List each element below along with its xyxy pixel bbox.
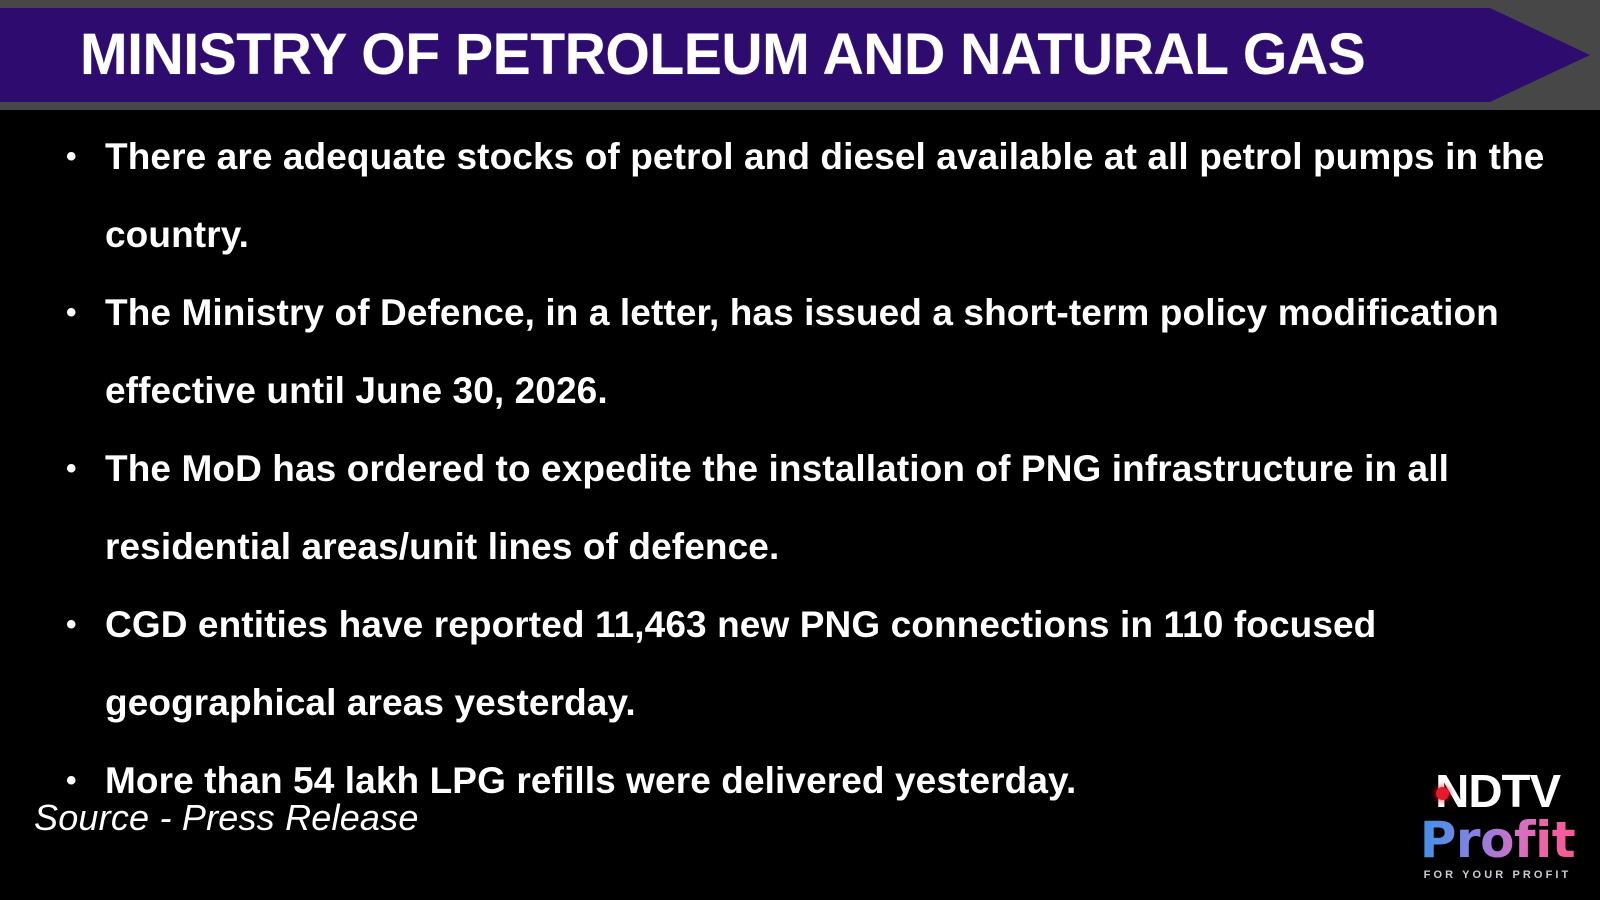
- list-item: CGD entities have reported 11,463 new PN…: [60, 586, 1560, 742]
- list-item: The Ministry of Defence, in a letter, ha…: [60, 274, 1560, 430]
- logo-product-text: Profit: [1405, 812, 1590, 868]
- header-banner: MINISTRY OF PETROLEUM AND NATURAL GAS: [0, 8, 1590, 102]
- logo-red-dot-icon: [1436, 787, 1449, 800]
- logo-brand-text: NDTV: [1435, 768, 1560, 814]
- logo-tagline: FOR YOUR PROFIT: [1405, 869, 1590, 882]
- bullet-list: There are adequate stocks of petrol and …: [60, 118, 1560, 820]
- header-band: MINISTRY OF PETROLEUM AND NATURAL GAS: [0, 0, 1600, 110]
- ndtv-profit-logo: NDTV Profit FOR YOUR PROFIT: [1405, 768, 1590, 888]
- list-item: The MoD has ordered to expedite the inst…: [60, 430, 1560, 586]
- content-area: There are adequate stocks of petrol and …: [0, 110, 1600, 900]
- source-attribution: Source - Press Release: [34, 800, 419, 836]
- page-title: MINISTRY OF PETROLEUM AND NATURAL GAS: [80, 26, 1365, 84]
- list-item: There are adequate stocks of petrol and …: [60, 118, 1560, 274]
